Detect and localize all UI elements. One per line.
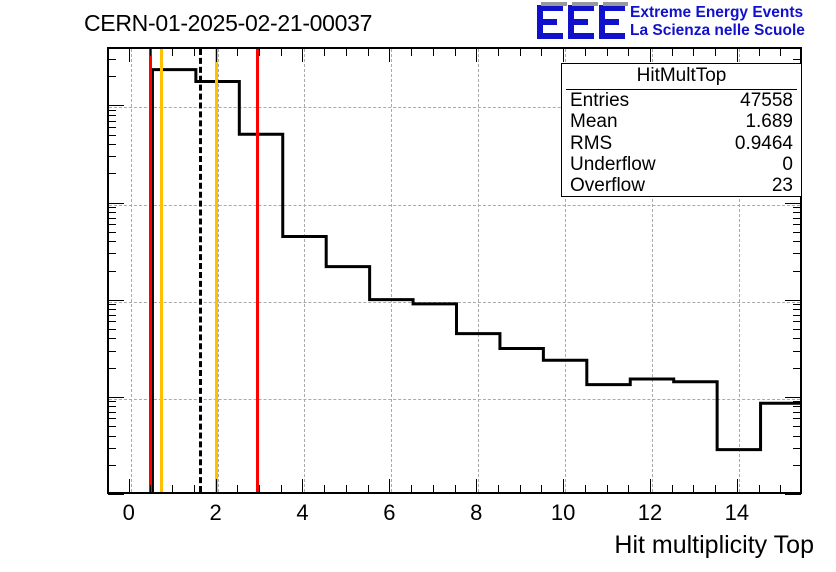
- axis-tick-y: [108, 494, 124, 495]
- x-tick-label: 0: [123, 500, 135, 526]
- axis-tick-x: [541, 485, 542, 493]
- axis-tick-y: [108, 304, 116, 305]
- axis-tick-x: [150, 485, 151, 493]
- axis-tick-y: [793, 59, 801, 60]
- axis-tick-y: [108, 448, 116, 449]
- axis-tick-y: [108, 121, 116, 122]
- axis-tick-y: [108, 110, 116, 111]
- axis-tick-y: [108, 271, 116, 272]
- axis-tick-x: [281, 485, 282, 493]
- page-title: CERN-01-2025-02-21-00037: [84, 10, 372, 37]
- axis-tick-x: [476, 479, 477, 493]
- axis-tick-x: [216, 48, 217, 62]
- x-tick-label: 12: [638, 500, 662, 526]
- axis-tick-y: [108, 309, 116, 310]
- axis-tick-y: [108, 253, 116, 254]
- marker-line: [256, 49, 259, 492]
- axis-tick-x: [433, 485, 434, 493]
- stat-value: 0: [782, 154, 793, 175]
- axis-tick-x: [411, 485, 412, 493]
- axis-tick-x: [455, 485, 456, 493]
- axis-tick-x: [324, 485, 325, 493]
- axis-tick-x: [585, 485, 586, 493]
- axis-tick-y: [108, 338, 116, 339]
- axis-tick-x: [237, 485, 238, 493]
- stat-row: Underflow0: [562, 154, 801, 175]
- axis-tick-x: [737, 479, 738, 493]
- axis-tick-y: [793, 426, 801, 427]
- axis-tick-x: [737, 48, 738, 62]
- stat-key: Entries: [570, 90, 629, 111]
- axis-tick-y: [793, 218, 801, 219]
- axis-tick-x: [607, 48, 608, 56]
- axis-tick-x: [346, 485, 347, 493]
- axis-tick-x: [715, 48, 716, 56]
- axis-tick-x: [715, 485, 716, 493]
- axis-tick-y: [793, 315, 801, 316]
- axis-tick-x: [520, 485, 521, 493]
- axis-tick-y: [108, 47, 116, 48]
- axis-tick-y: [108, 401, 116, 402]
- axis-tick-x: [541, 48, 542, 56]
- axis-tick-x: [411, 48, 412, 56]
- axis-tick-y: [793, 304, 801, 305]
- axis-tick-y: [785, 300, 801, 301]
- axis-tick-y: [108, 207, 116, 208]
- marker-line: [199, 49, 202, 492]
- axis-tick-y: [108, 397, 124, 398]
- stat-row: Overflow23: [562, 175, 801, 196]
- axis-tick-x: [520, 48, 521, 56]
- axis-tick-y: [108, 127, 116, 128]
- axis-tick-y: [793, 436, 801, 437]
- axis-tick-y: [108, 135, 116, 136]
- axis-tick-x: [259, 485, 260, 493]
- axis-tick-x: [585, 48, 586, 56]
- x-tick-label: 2: [209, 500, 221, 526]
- axis-tick-x: [194, 485, 195, 493]
- axis-tick-y: [793, 309, 801, 310]
- axis-tick-y: [108, 105, 124, 106]
- axis-tick-x: [563, 479, 564, 493]
- axis-tick-x: [237, 48, 238, 56]
- marker-line: [215, 49, 218, 492]
- axis-tick-y: [793, 212, 801, 213]
- axis-tick-x: [563, 48, 564, 62]
- axis-tick-y: [793, 224, 801, 225]
- axis-tick-y: [108, 241, 116, 242]
- axis-tick-y: [108, 321, 116, 322]
- axis-tick-y: [108, 144, 116, 145]
- axis-tick-x: [455, 48, 456, 56]
- x-tick-label: 8: [470, 500, 482, 526]
- axis-tick-x: [607, 485, 608, 493]
- axis-tick-y: [108, 412, 116, 413]
- axis-tick-y: [108, 418, 116, 419]
- axis-tick-x: [194, 48, 195, 56]
- logo-text-line2: La Scienza nelle Scuole: [630, 22, 805, 40]
- axis-tick-y: [793, 253, 801, 254]
- axis-tick-y: [793, 406, 801, 407]
- axis-tick-x: [672, 485, 673, 493]
- axis-tick-y: [793, 448, 801, 449]
- axis-tick-y: [108, 315, 116, 316]
- axis-tick-y: [793, 207, 801, 208]
- axis-tick-y: [108, 436, 116, 437]
- stat-value: 1.689: [745, 111, 793, 132]
- axis-tick-y: [108, 115, 116, 116]
- marker-line: [160, 49, 163, 492]
- axis-tick-x: [302, 48, 303, 62]
- axis-tick-x: [150, 48, 151, 56]
- eee-logo: Extreme Energy Events La Scienza nelle S…: [536, 2, 836, 44]
- stat-row: RMS0.9464: [562, 133, 801, 154]
- axis-tick-y: [108, 76, 116, 77]
- axis-tick-y: [108, 300, 124, 301]
- axis-tick-x: [780, 485, 781, 493]
- axis-tick-x: [172, 485, 173, 493]
- axis-tick-x: [346, 48, 347, 56]
- axis-tick-x: [476, 48, 477, 62]
- axis-tick-y: [108, 406, 116, 407]
- axis-tick-y: [108, 218, 116, 219]
- stats-box: HitMultTop Entries47558Mean1.689RMS0.946…: [561, 63, 802, 197]
- eee-logo-icon: [536, 2, 628, 42]
- x-tick-label: 4: [296, 500, 308, 526]
- stat-value: 23: [772, 175, 793, 196]
- axis-tick-y: [108, 59, 116, 60]
- stat-value: 0.9464: [735, 133, 793, 154]
- axis-tick-y: [793, 329, 801, 330]
- axis-tick-y: [793, 338, 801, 339]
- axis-tick-x: [259, 48, 260, 56]
- axis-tick-y: [108, 426, 116, 427]
- axis-tick-y: [793, 401, 801, 402]
- stat-key: Underflow: [570, 154, 656, 175]
- axis-tick-x: [498, 485, 499, 493]
- axis-tick-y: [785, 494, 801, 495]
- axis-tick-x: [628, 485, 629, 493]
- plot-canvas: CERN-01-2025-02-21-00037: [0, 0, 836, 572]
- stat-key: Overflow: [570, 175, 645, 196]
- axis-tick-x: [759, 485, 760, 493]
- x-tick-label: 14: [725, 500, 749, 526]
- axis-tick-x: [302, 479, 303, 493]
- axis-tick-y: [108, 156, 116, 157]
- stat-row: Entries47558: [562, 90, 801, 111]
- axis-tick-x: [433, 48, 434, 56]
- axis-tick-y: [785, 203, 801, 204]
- axis-tick-y: [108, 351, 116, 352]
- axis-tick-x: [650, 479, 651, 493]
- axis-tick-y: [793, 47, 801, 48]
- axis-tick-x: [672, 48, 673, 56]
- axis-tick-y: [793, 241, 801, 242]
- axis-tick-y: [108, 212, 116, 213]
- axis-tick-y: [793, 321, 801, 322]
- axis-tick-x: [129, 48, 130, 62]
- axis-tick-x: [693, 485, 694, 493]
- axis-tick-y: [793, 351, 801, 352]
- axis-tick-x: [216, 479, 217, 493]
- axis-tick-y: [785, 397, 801, 398]
- axis-tick-y: [793, 465, 801, 466]
- axis-tick-y: [793, 232, 801, 233]
- axis-tick-x: [368, 48, 369, 56]
- axis-tick-x: [389, 48, 390, 62]
- logo-text-line1: Extreme Energy Events: [630, 4, 803, 22]
- axis-tick-x: [759, 48, 760, 56]
- axis-tick-x: [628, 48, 629, 56]
- x-axis-title: Hit multiplicity Top: [614, 531, 814, 560]
- axis-tick-y: [793, 368, 801, 369]
- axis-tick-y: [108, 368, 116, 369]
- axis-tick-y: [108, 173, 116, 174]
- stat-key: Mean: [570, 111, 618, 132]
- axis-tick-x: [650, 48, 651, 62]
- axis-tick-x: [780, 48, 781, 56]
- x-tick-label: 6: [383, 500, 395, 526]
- axis-tick-x: [281, 48, 282, 56]
- stat-key: RMS: [570, 133, 612, 154]
- axis-tick-y: [108, 232, 116, 233]
- axis-tick-x: [693, 48, 694, 56]
- axis-tick-y: [108, 465, 116, 466]
- axis-tick-y: [793, 418, 801, 419]
- stats-title: HitMultTop: [566, 64, 797, 90]
- stat-row: Mean1.689: [562, 111, 801, 132]
- axis-tick-y: [108, 203, 124, 204]
- stats-rows: Entries47558Mean1.689RMS0.9464Underflow0…: [562, 90, 801, 196]
- axis-tick-x: [324, 48, 325, 56]
- axis-tick-x: [172, 48, 173, 56]
- axis-tick-x: [389, 479, 390, 493]
- x-tick-label: 10: [551, 500, 575, 526]
- axis-tick-y: [793, 412, 801, 413]
- axis-tick-x: [129, 479, 130, 493]
- marker-line: [149, 49, 152, 492]
- axis-tick-x: [368, 485, 369, 493]
- axis-tick-x: [498, 48, 499, 56]
- axis-tick-y: [793, 271, 801, 272]
- axis-tick-y: [108, 224, 116, 225]
- stat-value: 47558: [740, 90, 793, 111]
- axis-tick-y: [108, 329, 116, 330]
